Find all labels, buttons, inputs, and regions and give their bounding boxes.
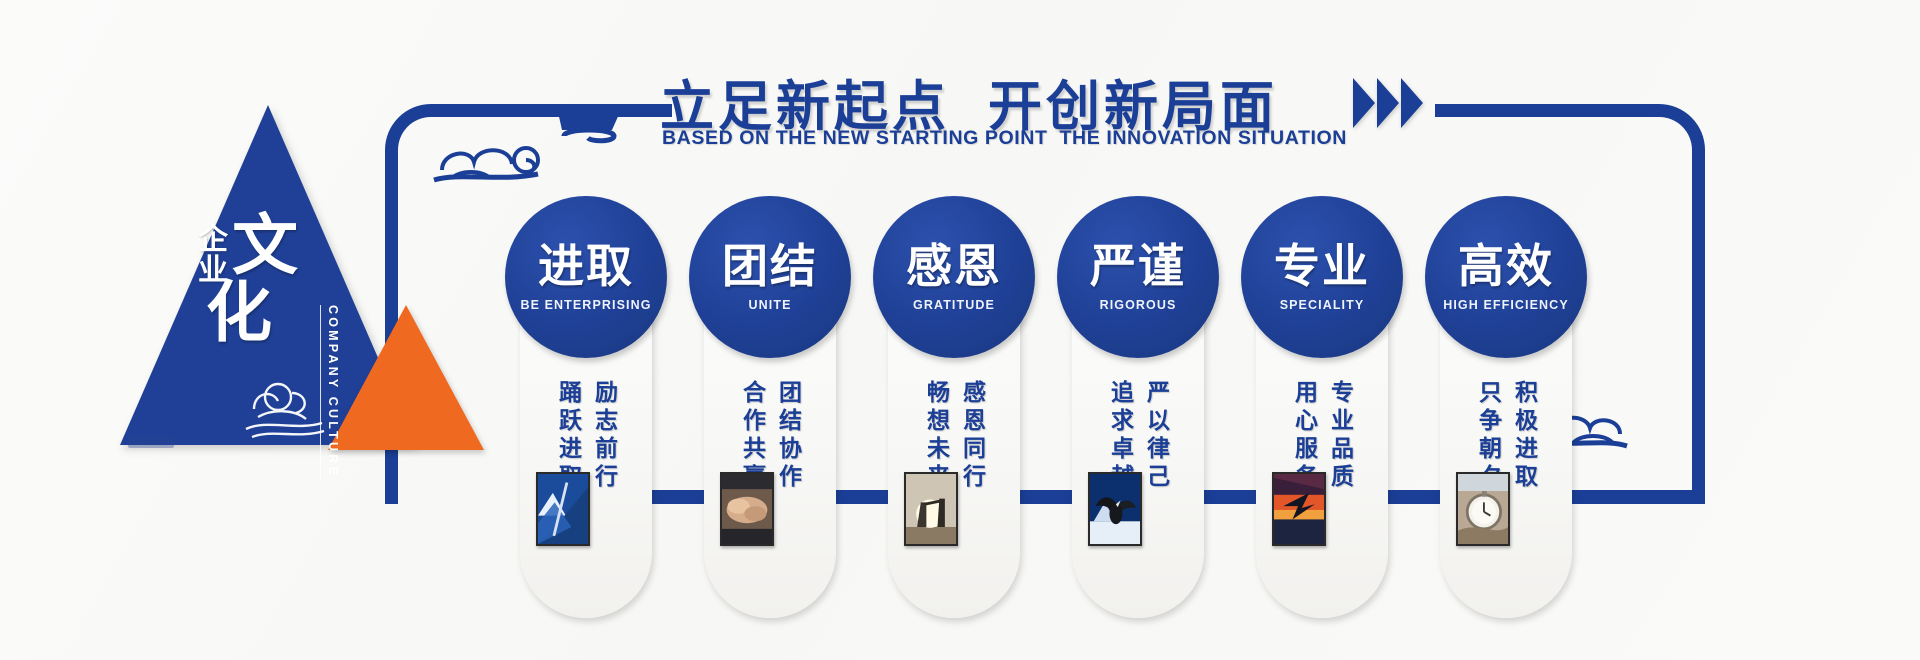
value-badge[interactable]: 团结 UNITE xyxy=(689,196,851,358)
value-pill[interactable]: 进取 BE ENTERPRISING 励志前行 踊跃进取 xyxy=(520,228,652,618)
triangle-orange xyxy=(328,305,484,450)
culture-wall-board: 文 化 企 业 COMPANY CULTURE xyxy=(0,0,1920,660)
logo-corner-badge xyxy=(128,435,174,448)
page-subtitle: BASED ON THE NEW STARTING POINT THE INNO… xyxy=(662,127,1347,150)
logo-char-qi: 企 xyxy=(198,225,228,256)
value-title-en: BE ENTERPRISING xyxy=(520,298,651,312)
chevron-right-icon xyxy=(1353,78,1375,128)
value-title-cn: 感恩 xyxy=(906,243,1002,289)
logo-char-hua: 化 xyxy=(206,282,298,345)
value-slogan-right: 严以律己 xyxy=(1145,380,1168,492)
value-pill[interactable]: 严谨 RIGOROUS 严以律己 追求卓越 xyxy=(1072,228,1204,618)
value-badge[interactable]: 感恩 GRATITUDE xyxy=(873,196,1035,358)
value-slogan-right: 专业品质 xyxy=(1329,380,1352,492)
value-title-cn: 进取 xyxy=(538,243,634,289)
logo-char-wen: 文 xyxy=(232,215,298,278)
value-title-cn: 高效 xyxy=(1458,243,1554,289)
value-slogan-right: 积极进取 xyxy=(1513,380,1536,492)
chevron-right-icon xyxy=(1377,78,1399,128)
chevron-right-icon xyxy=(1401,78,1423,128)
company-culture-logo: 文 化 企 业 COMPANY CULTURE xyxy=(120,105,450,495)
value-title-cn: 团结 xyxy=(722,243,818,289)
value-slogan-right: 励志前行 xyxy=(593,380,616,492)
handshake-photo xyxy=(720,472,774,546)
frame-top-right-bar xyxy=(1435,104,1525,117)
value-title-en: UNITE xyxy=(749,298,792,312)
logo-chinese-text: 文 化 企 业 xyxy=(198,215,298,346)
value-pill[interactable]: 团结 UNITE 团结协作 合作共赢 xyxy=(704,228,836,618)
value-badge[interactable]: 高效 HIGH EFFICIENCY xyxy=(1425,196,1587,358)
value-pill-list: 进取 BE ENTERPRISING 励志前行 踊跃进取 团结 xyxy=(520,228,1572,618)
helping-hand-photo xyxy=(904,472,958,546)
value-title-en: SPECIALITY xyxy=(1280,298,1365,312)
chevron-group-icon xyxy=(1353,78,1423,128)
value-pill[interactable]: 专业 SPECIALITY 专业品质 用心服务 xyxy=(1256,228,1388,618)
jet-sunset-photo xyxy=(1272,472,1326,546)
value-slogan-right: 团结协作 xyxy=(777,380,800,492)
value-title-en: RIGOROUS xyxy=(1100,298,1177,312)
value-badge[interactable]: 专业 SPECIALITY xyxy=(1241,196,1403,358)
value-title-cn: 严谨 xyxy=(1090,243,1186,289)
mountain-climber-photo xyxy=(536,472,590,546)
value-title-cn: 专业 xyxy=(1274,243,1370,289)
hook-ornament-icon xyxy=(556,108,628,144)
value-slogan-right: 感恩同行 xyxy=(961,380,984,492)
logo-cloud-icon xyxy=(238,373,330,448)
value-badge[interactable]: 进取 BE ENTERPRISING xyxy=(505,196,667,358)
value-pill[interactable]: 感恩 GRATITUDE 感恩同行 畅想未来 xyxy=(888,228,1020,618)
value-badge[interactable]: 严谨 RIGOROUS xyxy=(1057,196,1219,358)
value-title-en: HIGH EFFICIENCY xyxy=(1443,298,1569,312)
value-title-en: GRATITUDE xyxy=(913,298,995,312)
value-pill[interactable]: 高效 HIGH EFFICIENCY 积极进取 只争朝夕 xyxy=(1440,228,1572,618)
eagle-photo xyxy=(1088,472,1142,546)
stopwatch-photo xyxy=(1456,472,1510,546)
